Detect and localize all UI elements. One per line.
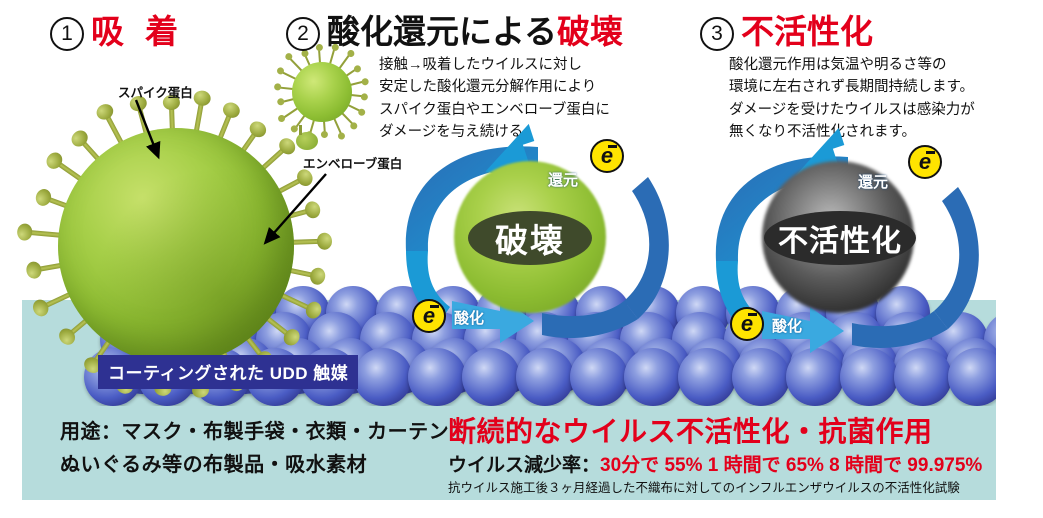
spike-protein-small — [320, 121, 329, 135]
test-note: 抗ウイルス施工後３ヶ月経過した不織布に対してのインフルエンザウイルスの不活性化試… — [448, 477, 960, 496]
claim-headline: 断続的なウイルス不活性化・抗菌作用 — [448, 410, 933, 450]
virus-fragment — [296, 132, 318, 150]
usage-text: 用途：マスク・布製手袋・衣類・カーテン ぬいぐるみ等の布製品・吸水素材 — [60, 416, 449, 482]
minus-sign — [430, 305, 439, 308]
udd-bead — [570, 348, 628, 406]
redox-cycle-diagram-2: 破壊 還元 酸化 e e — [392, 133, 682, 348]
spike-knob — [17, 224, 33, 242]
panel-3-description: 酸化還元作用は気温や明るさ等の 環境に左右されず長期間持続します。 ダメージを受… — [729, 54, 975, 144]
minus-sign — [608, 145, 617, 148]
rate-values: 30分で 55% 1 時間で 65% 8 時間で 99.975% — [600, 455, 982, 476]
spike-knob — [321, 131, 328, 138]
envelope-protein-leader-arrow — [248, 170, 338, 260]
spike-knob — [308, 266, 326, 286]
oxidation-label-3: 酸化 — [772, 315, 802, 336]
rate-separator: ： — [581, 455, 600, 476]
minus-sign — [748, 313, 757, 316]
spike-knob — [33, 187, 53, 208]
panel-1-step-number: 1 — [50, 17, 84, 51]
spike-knob — [274, 83, 282, 91]
panel-2-header: 2酸化還元による破壊 — [286, 5, 623, 53]
spike-knob — [361, 77, 369, 85]
panel-2-title-black: 酸化還元による — [327, 13, 557, 50]
panel-1-header: 1吸 着 — [50, 5, 184, 53]
udd-bead — [408, 348, 466, 406]
virus-envelope-small — [292, 62, 352, 122]
udd-bead — [462, 348, 520, 406]
udd-bead — [516, 348, 574, 406]
panel-3-center-label: 不活性化 — [764, 211, 916, 265]
panel-2-step-number: 2 — [286, 17, 320, 51]
panel-2-title-red: 破壊 — [557, 13, 623, 50]
spike-knob — [360, 93, 368, 101]
panel-3-title: 不活性化 — [741, 13, 873, 50]
spike-knob — [357, 107, 366, 116]
spike-knob — [220, 100, 241, 120]
spike-protein-small — [350, 91, 364, 100]
electron-badge-top-3: e — [908, 145, 942, 179]
minus-sign — [926, 151, 935, 154]
spike-knob — [277, 98, 285, 106]
infographic-canvas: 1吸 着 2酸化還元による破壊 3不活性化 接触→吸着したウイルスに対し 安定し… — [0, 0, 1043, 518]
spike-knob — [337, 132, 346, 141]
electron-badge-bottom-2: e — [412, 299, 446, 333]
udd-bead — [354, 348, 412, 406]
reduction-label-3: 還元 — [858, 171, 888, 192]
panel-2-description: 接触→吸着したウイルスに対し 安定した酸化還元分解作用により スパイク蛋白やエン… — [379, 54, 610, 144]
udd-bead — [624, 348, 682, 406]
spike-knob — [94, 102, 116, 123]
panel-3-step-number: 3 — [700, 17, 734, 51]
panel-3-header: 3不活性化 — [700, 5, 873, 53]
udd-catalyst-caption: コーティングされた UDD 触媒 — [98, 355, 358, 389]
reduction-label-2: 還元 — [548, 169, 578, 190]
panel-1-title: 吸 着 — [91, 13, 184, 50]
electron-badge-top-2: e — [590, 139, 624, 173]
virus-reduction-rate: ウイルス減少率：30分で 55% 1 時間で 65% 8 時間で 99.975% — [448, 450, 982, 477]
spike-knob — [25, 261, 43, 280]
spike-knob — [276, 67, 285, 76]
oxidation-label-2: 酸化 — [454, 307, 484, 328]
spike-knob — [192, 89, 211, 107]
redox-cycle-diagram-3: 不活性化 還元 酸化 e e — [702, 143, 992, 358]
electron-badge-bottom-3: e — [730, 307, 764, 341]
rate-label: ウイルス減少率 — [448, 455, 581, 476]
panel-2-center-label: 破壊 — [468, 211, 592, 265]
spike-protein-leader-arrow — [124, 98, 184, 178]
